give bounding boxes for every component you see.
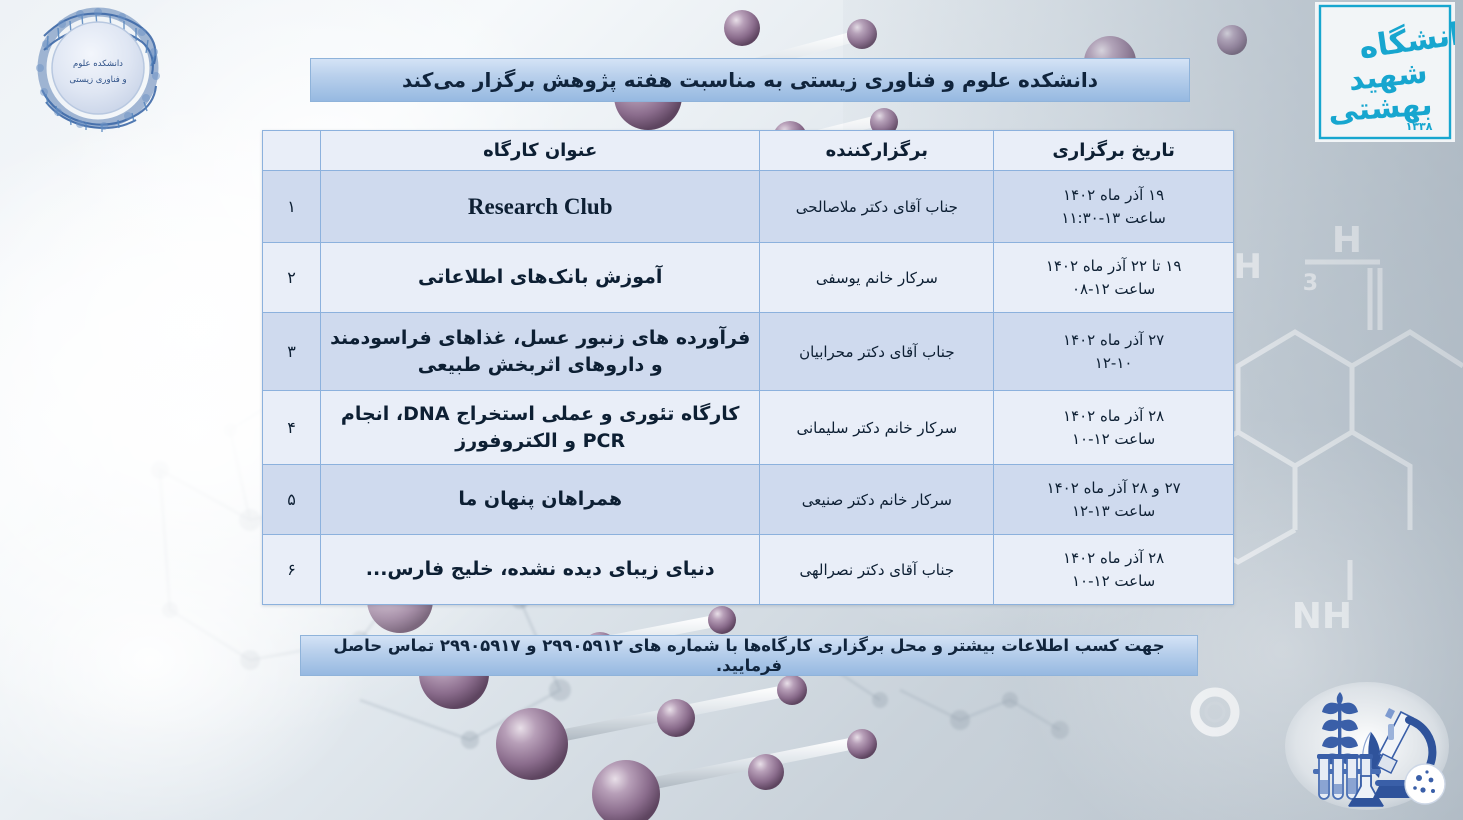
cell-date-line1: ۲۷ و ۲۸ آذر ماه ۱۴۰۲ [1047, 479, 1181, 497]
cell-organizer: جناب آقای دکتر نصرالهی [760, 535, 994, 605]
cell-date: ۱۹ آذر ماه ۱۴۰۲ساعت ۱۳-۱۱:۳۰ [994, 171, 1234, 243]
table-body: ۱۹ آذر ماه ۱۴۰۲ساعت ۱۳-۱۱:۳۰جناب آقای دک… [263, 171, 1234, 605]
cell-organizer: جناب آقای دکتر محرابیان [760, 313, 994, 391]
cell-workshop-title: آموزش بانک‌های اطلاعاتی [320, 243, 759, 313]
cell-date-line2: ساعت ۱۳-۱۱:۳۰ [1002, 207, 1225, 230]
cell-row-number: ۵ [263, 465, 321, 535]
contact-banner-text: جهت کسب اطلاعات بیشتر و محل برگزاری کارگ… [301, 636, 1197, 676]
cell-date: ۲۸ آذر ماه ۱۴۰۲ساعت ۱۲-۱۰ [994, 535, 1234, 605]
shahid-beheshti-university-logo: دانشگاه شهید بهشتی ۱۳۳۸ [1315, 2, 1455, 142]
ring-accent [1195, 692, 1235, 732]
header-number [263, 131, 321, 171]
cell-workshop-title: دنیای زیبای دیده نشده، خلیج فارس... [320, 535, 759, 605]
table-header: تاریخ برگزاری برگزارکننده عنوان کارگاه [263, 131, 1234, 171]
cell-organizer: سرکار خانم دکتر سلیمانی [760, 391, 994, 465]
table-row: ۲۸ آذر ماه ۱۴۰۲ساعت ۱۲-۱۰جناب آقای دکتر … [263, 535, 1234, 605]
cell-date-line2: ساعت ۱۲-۱۰ [1002, 570, 1225, 593]
cell-date-line2: ساعت ۱۲-۱۰ [1002, 428, 1225, 451]
cell-date-line2: ساعت ۱۳-۱۲ [1002, 500, 1225, 523]
cell-row-number: ۶ [263, 535, 321, 605]
petri-dish-icon [1405, 764, 1445, 804]
svg-text:NH: NH [1292, 596, 1352, 637]
cell-row-number: ۴ [263, 391, 321, 465]
table-row: ۱۹ آذر ماه ۱۴۰۲ساعت ۱۳-۱۱:۳۰جناب آقای دک… [263, 171, 1234, 243]
cell-organizer: جناب آقای دکتر ملاصالحی [760, 171, 994, 243]
header-date: تاریخ برگزاری [994, 131, 1234, 171]
svg-text:3: 3 [1303, 271, 1318, 296]
cell-date-line1: ۱۹ تا ۲۲ آذر ماه ۱۴۰۲ [1046, 257, 1182, 275]
cell-date: ۱۹ تا ۲۲ آذر ماه ۱۴۰۲ساعت ۱۲-۰۸ [994, 243, 1234, 313]
header-organizer: برگزارکننده [760, 131, 994, 171]
cell-date-line1: ۱۹ آذر ماه ۱۴۰۲ [1063, 186, 1164, 204]
faculty-seal-line2: و فناوری زیستی [69, 75, 126, 85]
cell-date-line1: ۲۸ آذر ماه ۱۴۰۲ [1063, 407, 1164, 425]
cell-date-line1: ۲۸ آذر ماه ۱۴۰۲ [1063, 549, 1164, 567]
table-row: ۲۸ آذر ماه ۱۴۰۲ساعت ۱۲-۱۰سرکار خانم دکتر… [263, 391, 1234, 465]
cell-workshop-title: Research Club [320, 171, 759, 243]
cell-date-line2: ساعت ۱۲-۰۸ [1002, 278, 1225, 301]
title-banner-text: دانشکده علوم و فناوری زیستی به مناسبت هف… [402, 68, 1098, 92]
table-header-row: تاریخ برگزاری برگزارکننده عنوان کارگاه [263, 131, 1234, 171]
cell-date: ۲۸ آذر ماه ۱۴۰۲ساعت ۱۲-۱۰ [994, 391, 1234, 465]
cell-date: ۲۷ و ۲۸ آذر ماه ۱۴۰۲ساعت ۱۳-۱۲ [994, 465, 1234, 535]
cell-organizer: سرکار خانم یوسفی [760, 243, 994, 313]
poster-canvas: CH 3 H NH [0, 0, 1463, 820]
faculty-seal-line1: دانشکده علوم [73, 59, 123, 69]
cell-row-number: ۱ [263, 171, 321, 243]
cell-date-line1: ۲۷ آذر ماه ۱۴۰۲ [1063, 331, 1164, 349]
header-title: عنوان کارگاه [320, 131, 759, 171]
university-logo-year: ۱۳۳۸ [1406, 120, 1433, 133]
svg-text:H: H [1332, 220, 1362, 261]
cell-row-number: ۳ [263, 313, 321, 391]
contact-banner: جهت کسب اطلاعات بیشتر و محل برگزاری کارگ… [300, 635, 1198, 676]
table-row: ۲۷ و ۲۸ آذر ماه ۱۴۰۲ساعت ۱۳-۱۲سرکار خانم… [263, 465, 1234, 535]
science-research-emblem [1283, 680, 1451, 812]
cell-row-number: ۲ [263, 243, 321, 313]
cell-workshop-title: همراهان پنهان ما [320, 465, 759, 535]
title-banner: دانشکده علوم و فناوری زیستی به مناسبت هف… [310, 58, 1190, 102]
cell-date-line2: ۱۲-۱۰ [1002, 352, 1225, 375]
cell-date: ۲۷ آذر ماه ۱۴۰۲۱۲-۱۰ [994, 313, 1234, 391]
table-row: ۲۷ آذر ماه ۱۴۰۲۱۲-۱۰جناب آقای دکتر محراب… [263, 313, 1234, 391]
cell-workshop-title: فرآورده های زنبور عسل، غذاهای فراسودمند … [320, 313, 759, 391]
workshop-schedule-table: تاریخ برگزاری برگزارکننده عنوان کارگاه ۱… [262, 130, 1234, 605]
table-row: ۱۹ تا ۲۲ آذر ماه ۱۴۰۲ساعت ۱۲-۰۸سرکار خان… [263, 243, 1234, 313]
cell-organizer: سرکار خانم دکتر صنیعی [760, 465, 994, 535]
cell-workshop-title: کارگاه تئوری و عملی استخراج DNA، انجام P… [320, 391, 759, 465]
faculty-seal-logo: دانشکده علوم و فناوری زیستی [14, 6, 182, 134]
